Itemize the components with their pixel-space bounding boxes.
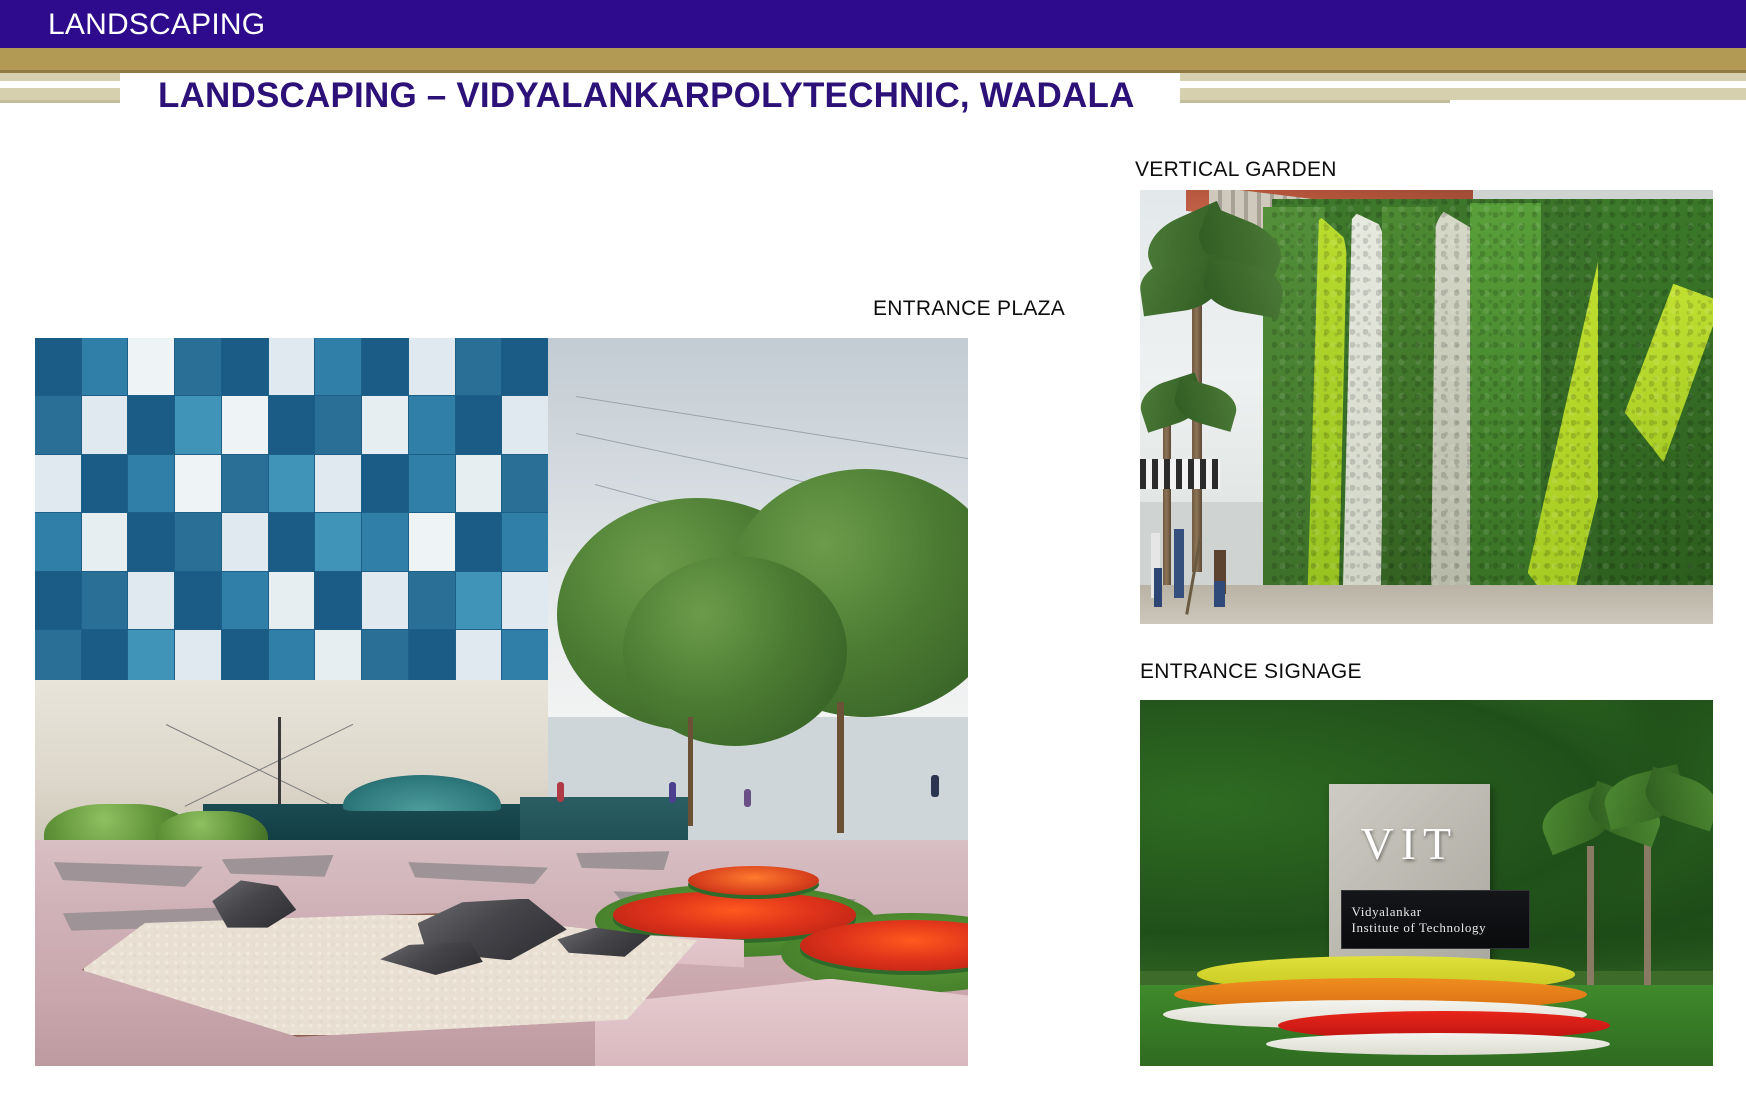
plaza-paving-inlay [576,851,669,870]
signage-plaque-line-1: Vidyalankar [1352,904,1422,920]
plaza-tree-canopy [623,556,847,745]
plaza-figure [931,775,939,797]
plaza-tree-trunk [837,702,844,833]
signage-monogram: VIT [1335,821,1484,880]
entrance-plaza-photo [35,338,968,1066]
plaza-tree-trunk [688,717,693,826]
plaza-figure [557,782,564,802]
signage-plaque: Vidyalankar Institute of Technology [1341,890,1530,949]
page-title: LANDSCAPING – VIDYALANKARPOLYTECHNIC, WA… [158,72,1135,120]
vertical-garden-worker [1154,568,1162,607]
vertical-garden-palm-trunk [1163,407,1171,598]
header-eyebrow-label: LANDSCAPING [48,5,265,45]
living-wall-foliage-texture [1272,199,1713,624]
signage-plaque-line-2: Institute of Technology [1352,920,1487,936]
signage-flower-bed-white [1266,1033,1610,1055]
plaza-facade-panel-grid [35,338,548,687]
plaza-figure [669,782,676,803]
header-gold-band [0,48,1746,71]
plaza-flower-bed [688,866,819,895]
vertical-garden-worker [1174,529,1184,598]
vertical-garden-worker [1214,581,1225,607]
vertical-garden-striped-awning [1140,459,1220,489]
caption-entrance-plaza: ENTRANCE PLAZA [873,297,1065,321]
entrance-signage-photo: VIT Vidyalankar Institute of Technology [1140,700,1713,1066]
plaza-glass-facade [35,338,548,687]
slide-canvas: LANDSCAPING LANDSCAPING – VIDYALANKARPOL… [0,0,1746,1110]
caption-vertical-garden: VERTICAL GARDEN [1135,158,1337,182]
vertical-garden-palm-trunk [1192,303,1202,572]
living-wall [1272,199,1713,624]
caption-entrance-signage: ENTRANCE SIGNAGE [1140,660,1362,684]
plaza-figure [744,789,751,807]
vertical-garden-photo [1140,190,1713,624]
